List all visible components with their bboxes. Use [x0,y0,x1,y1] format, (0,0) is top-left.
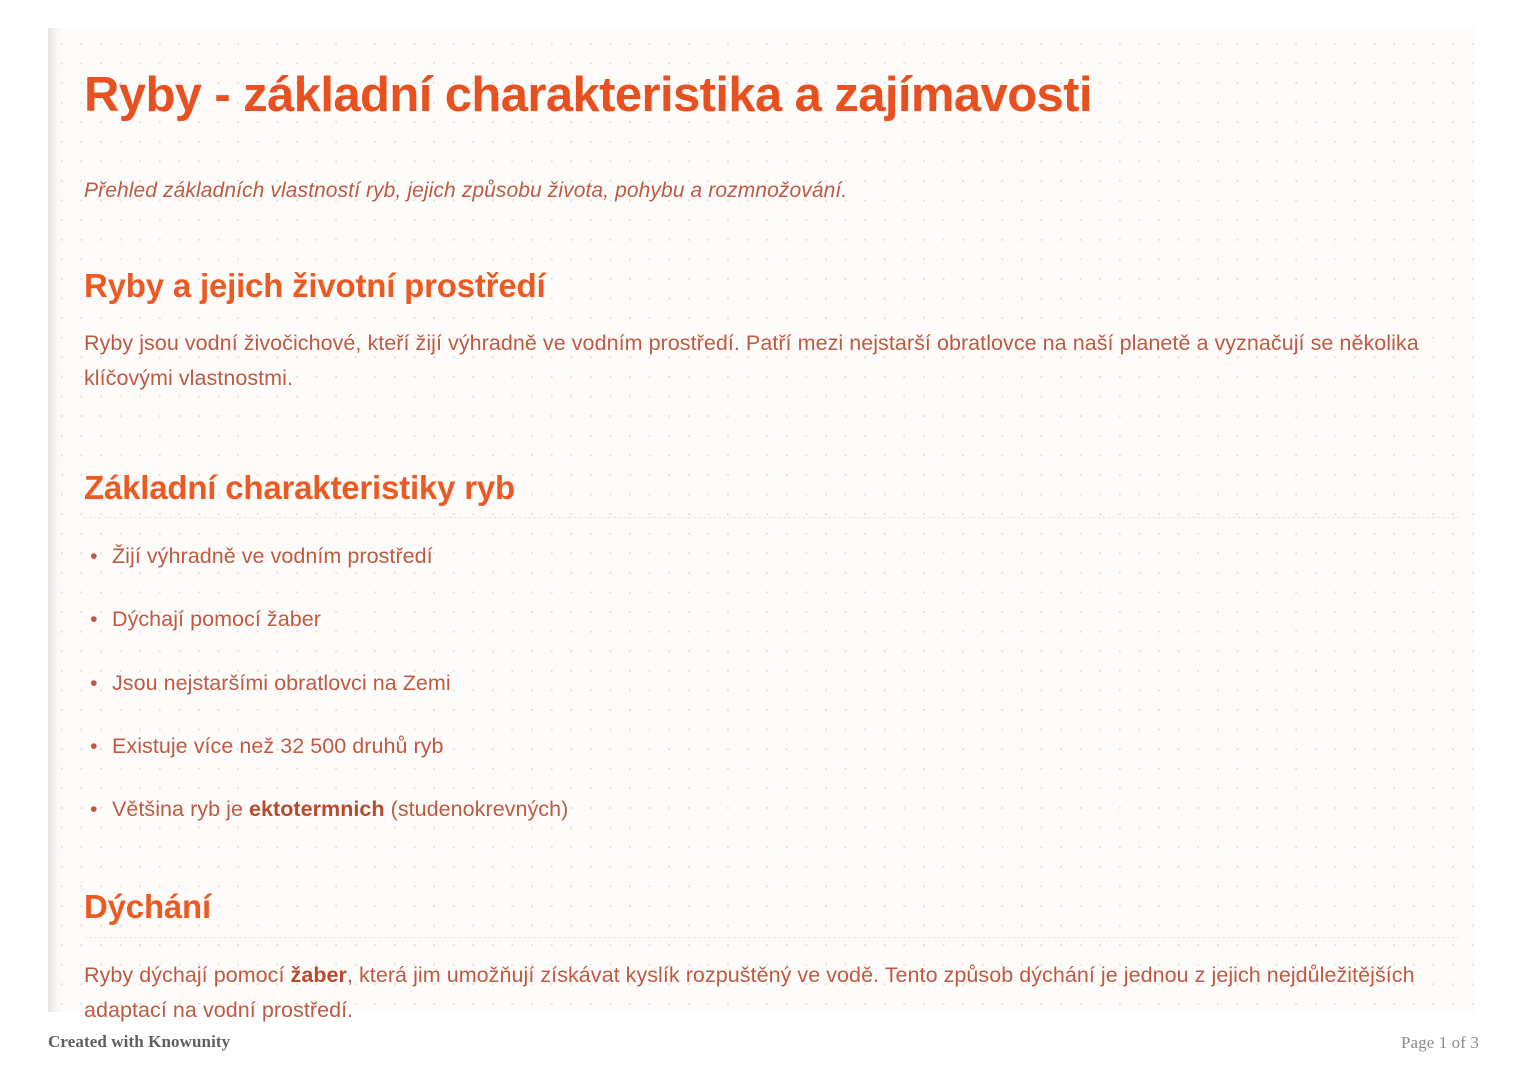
page-title: Ryby - základní charakteristika a zajíma… [84,0,1460,124]
list-item-label: Jsou nejstaršími obratlovci na Zemi [112,671,451,695]
list-item-label: Dýchají pomocí žaber [112,607,321,631]
paragraph-emphasis: žaber [291,963,347,987]
document-content: Ryby - základní charakteristika a zajíma… [84,0,1460,1028]
characteristics-list: •Žijí výhradně ve vodním prostředí •Dých… [84,518,1460,825]
paragraph-lead: Ryby dýchají pomocí [84,963,291,987]
list-item: •Dýchají pomocí žaber [84,603,1460,635]
bullet-marker-icon: • [90,730,98,762]
footer-page-indicator: Page 1 of 3 [1401,1033,1479,1053]
bullet-marker-icon: • [90,793,98,825]
list-item-label: Žijí výhradně ve vodním prostředí [112,544,433,568]
list-item: •Existuje více než 32 500 druhů ryb [84,730,1460,762]
section-paragraph-environment: Ryby jsou vodní živočichové, kteří žijí … [84,306,1456,396]
list-item: •Většina ryb je ektotermnich (studenokre… [84,793,1460,825]
list-item: •Žijí výhradně ve vodním prostředí [84,540,1460,572]
bullet-marker-icon: • [90,667,98,699]
list-item-emphasis: ektotermnich [249,797,385,821]
document-page: Ryby - základní charakteristika a zajíma… [0,0,1527,1080]
list-item-label: Existuje více než 32 500 druhů ryb [112,734,444,758]
list-item-label: Většina ryb je [112,797,249,821]
bullet-marker-icon: • [90,540,98,572]
page-footer: Created with Knowunity Page 1 of 3 [0,1012,1527,1080]
bullet-marker-icon: • [90,603,98,635]
section-heading-environment: Ryby a jejich životní prostředí [84,206,1460,306]
list-item: •Jsou nejstaršími obratlovci na Zemi [84,667,1460,699]
footer-credit: Created with Knowunity [48,1032,230,1052]
section-heading-traits: Základní charakteristiky ryb [84,396,1460,508]
list-item-label-tail: (studenokrevných) [385,797,569,821]
section-heading-breathing: Dýchání [84,825,1460,927]
page-subtitle: Přehled základních vlastností ryb, jejic… [84,124,1460,206]
